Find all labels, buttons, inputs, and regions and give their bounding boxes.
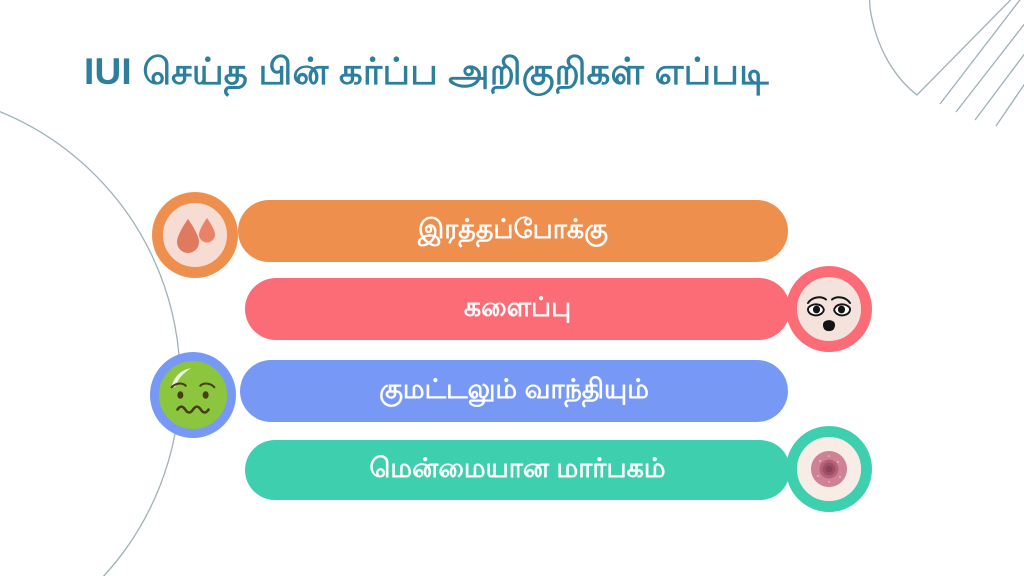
nauseated-face-icon: [150, 352, 236, 438]
chevron-outline-decoration: [868, 0, 1024, 95]
symptom-row-tender-breast[interactable]: மென்மையான மார்பகம்: [0, 440, 1024, 502]
diagonal-lines-decoration: [940, 0, 1024, 126]
blood-drop-icon: [152, 192, 238, 278]
slide-canvas: IUI செய்த பின் கர்ப்ப அறிகுறிகள் எப்படி …: [0, 0, 1024, 576]
symptom-row-bleeding[interactable]: இரத்தப்போக்கு: [0, 200, 1024, 262]
symptom-bar-fatigue[interactable]: களைப்பு: [245, 278, 790, 340]
symptom-bar-tender-breast[interactable]: மென்மையான மார்பகம்: [245, 440, 790, 500]
breast-tenderness-icon: [786, 426, 872, 512]
page-title: IUI செய்த பின் கர்ப்ப அறிகுறிகள் எப்படி: [84, 46, 874, 99]
symptom-label-fatigue: களைப்பு: [464, 294, 571, 324]
symptom-row-fatigue[interactable]: களைப்பு: [0, 278, 1024, 340]
tired-face-icon: [786, 266, 872, 352]
symptom-bar-bleeding[interactable]: இரத்தப்போக்கு: [238, 200, 788, 262]
symptom-bar-nausea[interactable]: குமட்டலும் வாந்தியும்: [240, 360, 788, 422]
symptom-label-tender-breast: மென்மையான மார்பகம்: [369, 455, 665, 485]
symptom-label-nausea: குமட்டலும் வாந்தியும்: [379, 376, 649, 406]
symptom-row-nausea[interactable]: குமட்டலும் வாந்தியும்: [0, 360, 1024, 422]
symptom-label-bleeding: இரத்தப்போக்கு: [418, 216, 608, 246]
